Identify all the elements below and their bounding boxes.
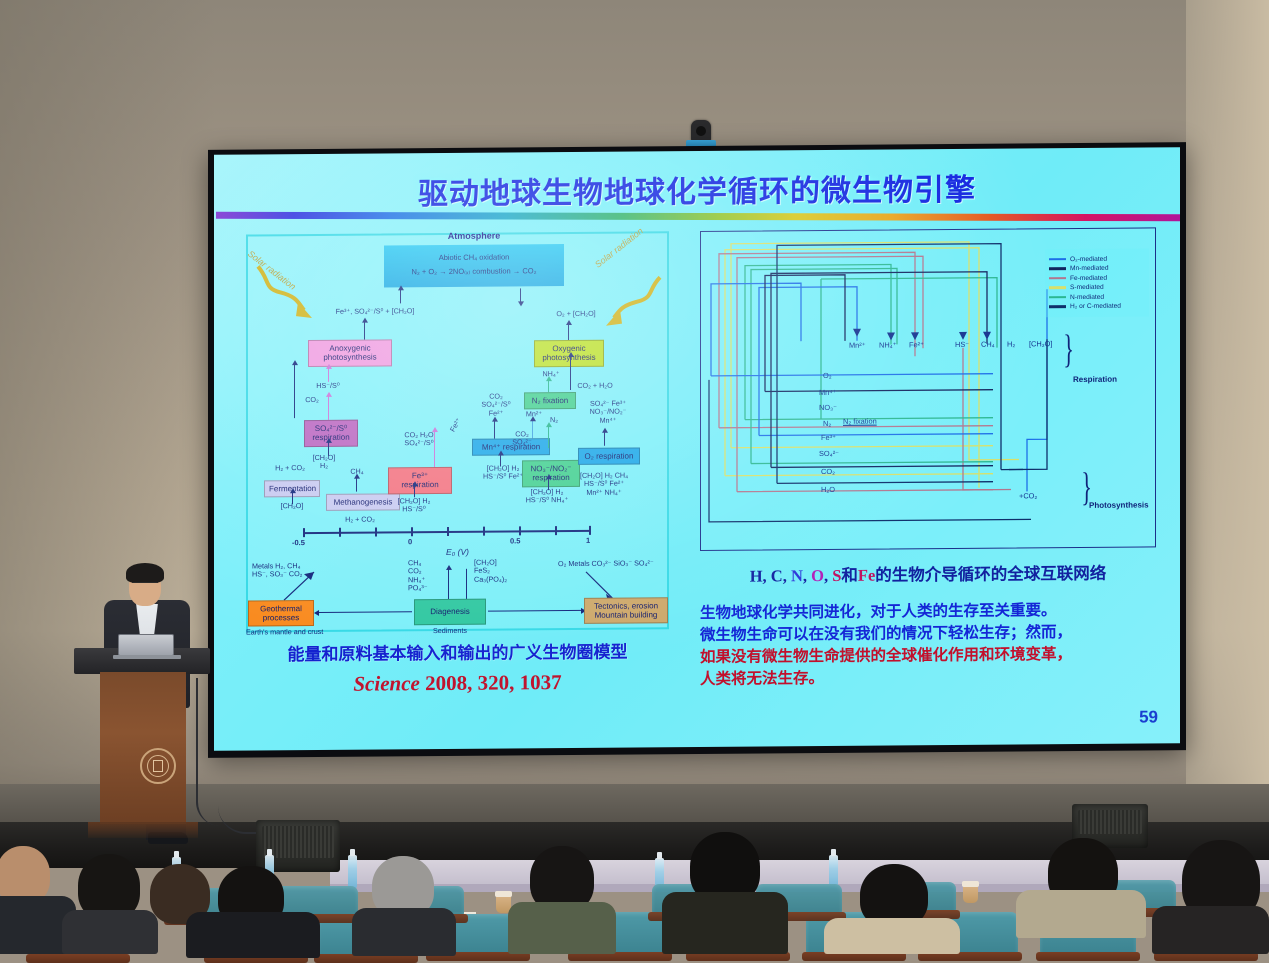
arrow-hs-up <box>328 368 329 382</box>
solar-arrow-right-icon <box>598 275 664 334</box>
note-fe-electron-donors: [CH₂O] H₂ HS⁻/S⁰ <box>390 497 438 514</box>
note-hs-s0: HS⁻/S⁰ <box>304 382 352 391</box>
projection-screen: 驱动地球生物地球化学循环的微生物引擎 Solar radiation Solar… <box>208 142 1186 758</box>
speaker-hair <box>126 563 164 583</box>
arrow-co2-a <box>294 364 295 418</box>
person-torso <box>824 918 960 954</box>
left-caption-chinese: 能量和原料基本输入和输出的广义生物圈模型 <box>246 637 669 665</box>
species-label-hs: HS⁻ <box>955 340 969 349</box>
species-label-so4: SO₄²⁻ <box>819 449 839 458</box>
species-label-mn2: Mn²⁺ <box>849 341 866 350</box>
arrow-mn-donor <box>500 455 501 467</box>
person-torso <box>352 908 456 956</box>
box-o2-respiration: O₂ respiration <box>578 447 640 465</box>
species-label-no3: NO₃⁻ <box>819 403 837 412</box>
arrow-so4-up <box>328 396 329 420</box>
legend-item: Mn-mediated <box>1049 264 1145 272</box>
box-geothermal-processes: Geothermal processes <box>248 600 314 627</box>
axis-tick <box>411 527 413 536</box>
legend-label-fe: Fe-mediated <box>1070 274 1107 281</box>
university-seal-icon <box>140 748 176 784</box>
arrow-oxy-up <box>568 324 569 340</box>
coffee-cup <box>963 885 978 903</box>
note-co2-a: CO₂ <box>298 396 326 405</box>
arrow-diagenesis-to-geothermal <box>318 611 412 613</box>
species-label-o2: O₂ <box>823 371 832 380</box>
caption-n: N <box>791 566 803 585</box>
arrow-from-atmosphere <box>520 288 521 302</box>
arrow-o2-photo <box>570 356 571 390</box>
axis-tick <box>589 526 591 535</box>
slide-title: 驱动地球生物地球化学循环的微生物引擎 <box>214 163 1180 215</box>
podium <box>86 648 198 846</box>
title-divider <box>216 212 1180 222</box>
earths-mantle-label: Earth's mantle and crust <box>246 628 346 637</box>
person-torso <box>186 912 320 958</box>
species-label-h2: H₂ <box>1007 340 1015 349</box>
legend-label-o2: O₂-mediated <box>1070 255 1107 262</box>
presenter-laptop <box>118 634 174 656</box>
species-label-h2o: H₂O <box>821 485 835 494</box>
box-diagenesis: Diagenesis <box>414 599 486 626</box>
person-torso <box>1152 906 1269 954</box>
lecture-hall-scene: 驱动地球生物地球化学循环的微生物引擎 Solar radiation Solar… <box>0 0 1269 952</box>
eh-axis-line <box>303 530 589 534</box>
axis-tick-label: 0 <box>408 537 412 546</box>
solar-arrow-left-icon <box>254 262 320 325</box>
citation-rest: 2008, 320, 1037 <box>420 670 562 695</box>
species-label-ch4: CH₄ <box>981 340 995 349</box>
note-o2-oxidants: SO₄²⁻ Fe³⁺ NO₃⁻/NO₂⁻ Mn⁴⁺ <box>584 400 632 426</box>
legend-item: Fe-mediated <box>1049 274 1145 282</box>
axis-tick-label: 1 <box>586 536 590 545</box>
caption-mid2: , <box>824 566 832 585</box>
box-n2-fixation: N₂ fixation <box>524 392 576 410</box>
note-mn-products: CO₂ SO₄²⁻/S⁰ Fe²⁺ <box>476 392 516 418</box>
legend-swatch-n <box>1049 296 1066 299</box>
arrow-diagenesis-up <box>448 569 449 601</box>
reference-citation: Science 2008, 320, 1037 <box>246 669 669 697</box>
arrow-ch4-up <box>356 478 357 492</box>
caption-he: 和 <box>841 566 858 585</box>
note-fe2: Fe²⁺ <box>446 413 465 438</box>
note-co2-h2o: CO₂ + H₂O <box>570 382 620 391</box>
podium-base <box>88 822 198 838</box>
flux-label-right: O₂ + [CH₂O] <box>536 310 616 319</box>
axis-tick-label: 0.5 <box>510 536 520 545</box>
photosynthesis-label: Photosynthesis <box>1089 500 1149 509</box>
presentation-slide: 驱动地球生物地球化学循环的微生物引擎 Solar radiation Solar… <box>214 147 1180 751</box>
respiration-label: Respiration <box>1073 375 1117 384</box>
arrow-diagenesis-to-tectonics <box>488 610 582 612</box>
caption-mid1: , <box>803 566 811 585</box>
box-methanogenesis: Methanogenesis <box>326 493 400 511</box>
solar-radiation-label-right: Solar radiation <box>593 226 645 270</box>
network-legend: O₂-mediated Mn-mediated Fe-mediated S-me… <box>1045 248 1149 316</box>
axis-tick <box>339 528 341 537</box>
axis-tick-label: -0.5 <box>292 538 305 547</box>
species-label-mn4: Mn⁴⁺ <box>819 388 836 397</box>
inline-label-n2-fixation: N₂ fixation <box>843 417 877 426</box>
note-co2-so4: CO₂ SO₄²⁻ <box>506 430 538 447</box>
legend-label-mn: Mn-mediated <box>1070 265 1108 272</box>
atmosphere-line2: N₂ + O₂ → 2NO₍ₓ₎ combustion → CO₂ <box>384 266 564 276</box>
legend-item: O₂-mediated <box>1049 255 1145 263</box>
axis-tick <box>555 526 557 535</box>
box-fe3-respiration: Fe³⁺ respiration <box>388 467 452 494</box>
body-line-4: 人类将无法生存。 <box>700 665 1170 691</box>
note-o2-donors: [CH₂O] H₂ CH₄ HS⁻/S⁰ Fe²⁺ Mn²⁺ NH₄⁺ <box>578 472 630 498</box>
axis-tick <box>519 526 521 535</box>
arrow-n2-up <box>548 426 549 448</box>
person-torso <box>508 902 616 954</box>
species-label-ch2o: [CH₂O] <box>1029 339 1052 348</box>
respiration-brace: } <box>1063 329 1074 459</box>
arrow-mn-p <box>494 421 495 439</box>
caption-post: 的生物介导循环的全球互联网络 <box>875 564 1106 585</box>
caption-s: S <box>832 566 841 585</box>
legend-swatch-fe <box>1049 277 1066 280</box>
person-torso <box>1016 890 1146 938</box>
box-tectonics: Tectonics, erosion Mountain building <box>584 597 668 624</box>
arrow-o2-ox <box>604 432 605 446</box>
right-caption: H, C, N, O, S和Fe的生物介导循环的全球互联网络 <box>700 559 1156 587</box>
flux-label-left: Fe³⁺, SO₄²⁻/S⁰ + [CH₂O] <box>316 307 434 316</box>
arrow-to-atmosphere <box>400 289 401 303</box>
species-label-fe2: Fe²⁺ <box>909 340 924 349</box>
caption-fe: Fe <box>858 566 875 585</box>
legend-swatch-h2c <box>1049 305 1066 308</box>
geothermal-arrow-icon <box>280 568 320 602</box>
eh-axis-label: E₀ (V) <box>248 545 667 558</box>
legend-label-n: N-mediated <box>1070 293 1104 300</box>
legend-swatch-mn <box>1049 267 1066 270</box>
arrow-no3-donor <box>548 478 549 490</box>
box-anoxygenic-photosynthesis: Anoxygenic photosynthesis <box>308 339 392 366</box>
left-diagram-panel: Solar radiation Solar radiation Atmosphe… <box>246 231 669 632</box>
wall-shadow-right <box>1186 0 1269 835</box>
biosphere-lower-zone: Metals H₂, CH₄ HS⁻, SO₃⁻ CO₂ Geothermal … <box>248 559 667 634</box>
arrow-diagenesis-down <box>466 569 467 601</box>
journal-name: Science <box>353 671 419 696</box>
seal-glyph <box>153 760 163 772</box>
arrow-ferm-up <box>292 492 293 504</box>
legend-label-h2c: H₂ or C-mediated <box>1070 303 1121 310</box>
arrow-anox-up <box>364 322 365 340</box>
note-no3-donors: [CH₂O] H₂ HS⁻/S⁰ NH₄⁺ <box>520 488 574 505</box>
podium-body <box>100 672 186 824</box>
legend-item: S-mediated <box>1049 283 1145 291</box>
note-h2-co2-meth: H₂ + CO₂ <box>334 515 386 524</box>
speaker-glasses <box>132 582 158 588</box>
atmosphere-title: Atmosphere <box>384 230 564 241</box>
legend-swatch-s <box>1049 286 1066 289</box>
axis-tick <box>483 527 485 536</box>
legend-item: H₂ or C-mediated <box>1049 302 1145 310</box>
camera-lens <box>696 126 706 136</box>
person-torso <box>62 910 158 954</box>
diagenesis-outputs: CH₄CO₂NH₄⁺PO₄³⁻ <box>408 559 442 593</box>
arrow-nh4-up <box>548 380 549 392</box>
atmosphere-box: Abiotic CH₄ oxidation N₂ + O₂ → 2NO₍ₓ₎ c… <box>384 244 564 287</box>
caption-pre: H, C, <box>750 566 791 585</box>
caption-o: O <box>811 566 824 585</box>
note-h2-co2-a: H₂ + CO₂ <box>268 464 312 473</box>
axis-tick <box>375 528 377 537</box>
floor-cable <box>196 678 220 826</box>
arrow-fe-up <box>434 431 435 467</box>
sediments-label: Sediments <box>414 627 486 636</box>
arrow-fe-donor <box>414 485 415 497</box>
axis-tick <box>303 528 305 537</box>
slide-body-text: 生物地球化学共同进化，对于人类的生存至关重要。 微生物生命可以在没有我们的情况下… <box>700 599 1170 691</box>
inline-label-plus-co2: +CO₂ <box>1019 491 1037 500</box>
water-bottle <box>348 855 357 889</box>
atmosphere-line1: Abiotic CH₄ oxidation <box>384 252 564 262</box>
species-label-n2: N₂ <box>823 419 831 428</box>
species-label-nh4: NH₄⁺ <box>879 340 897 349</box>
arrow-ch2o-a <box>328 442 329 456</box>
legend-item: N-mediated <box>1049 293 1145 301</box>
legend-label-s: S-mediated <box>1070 284 1104 291</box>
species-label-fe3: Fe³⁺ <box>821 433 836 442</box>
right-network-panel: Mn²⁺ NH₄⁺ Fe²⁺ HS⁻ CH₄ H₂ [CH₂O] O₂ Mn⁴⁺… <box>700 227 1156 551</box>
person-torso <box>662 892 788 954</box>
slide-number: 59 <box>1139 707 1158 727</box>
diagenesis-inputs: [CH₂O]FeS₂Ca₃(PO₄)₂ <box>474 558 534 584</box>
species-label-co2: CO₂ <box>821 467 835 476</box>
legend-swatch-o2 <box>1049 258 1066 261</box>
axis-tick <box>447 527 449 536</box>
